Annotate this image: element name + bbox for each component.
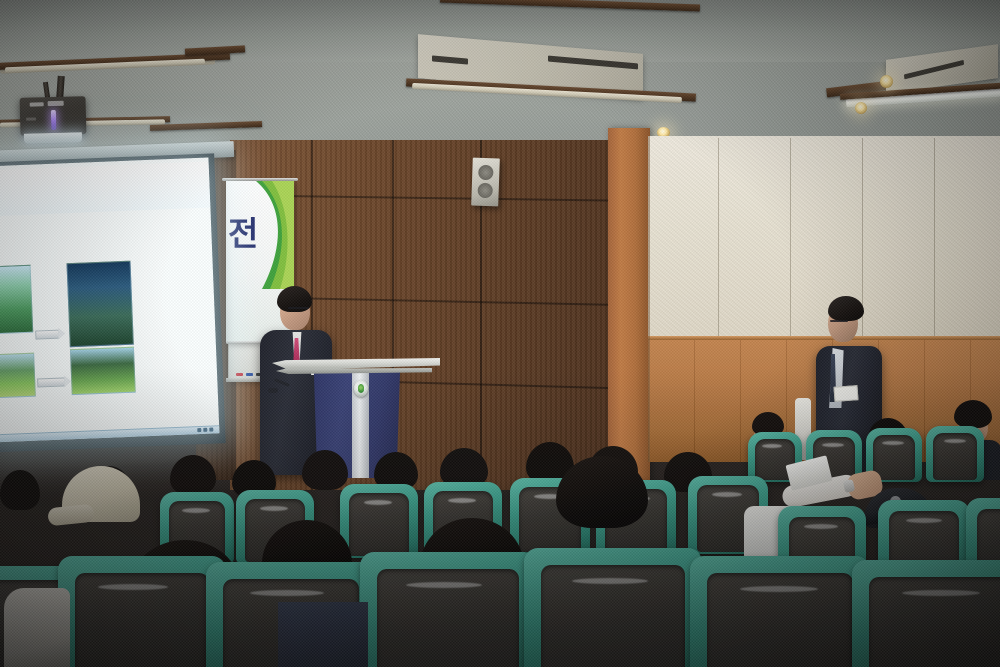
seat[interactable] — [926, 426, 984, 482]
system-tray[interactable] — [197, 427, 215, 432]
slide-arrow-2 — [37, 377, 65, 387]
seat[interactable] — [524, 548, 702, 667]
slide-photo-3 — [0, 353, 36, 399]
downlight-right-2 — [855, 102, 867, 114]
downlight-right-1 — [880, 75, 893, 88]
marker-blue — [246, 373, 253, 376]
audience-head — [0, 470, 44, 528]
attendee-light-clothing — [4, 588, 70, 667]
seat[interactable] — [58, 556, 226, 667]
seat[interactable] — [852, 560, 1000, 667]
microphone-head — [268, 388, 278, 393]
slide — [0, 157, 219, 442]
standing-man-glasses — [830, 320, 848, 322]
slide-title-band — [0, 161, 210, 216]
presenter-glasses — [288, 307, 309, 309]
slide-photo-2 — [66, 261, 133, 348]
auditorium-photo: 전 — [0, 0, 1000, 667]
seat[interactable] — [360, 552, 536, 667]
wall-seam — [648, 136, 650, 462]
projector — [20, 96, 87, 136]
wall-speaker — [471, 158, 500, 207]
slide-arrow-1 — [35, 330, 59, 340]
seat[interactable] — [690, 556, 870, 667]
attendee-dark-clothing — [278, 602, 368, 667]
panel-seam — [934, 138, 935, 336]
beige-cap-brim — [47, 504, 95, 527]
podium-emblem — [354, 380, 368, 397]
pillar — [608, 128, 650, 490]
panel-seam — [718, 138, 719, 336]
slide-photo-4 — [70, 347, 136, 396]
wristwatch — [843, 479, 855, 493]
attendee-with-beige-cap — [48, 466, 140, 544]
marker-red — [236, 373, 243, 376]
name-badge — [834, 385, 859, 402]
slide-photo-1 — [0, 265, 33, 335]
audience-head — [556, 456, 648, 542]
panel-seam — [790, 138, 791, 336]
projection-screen — [0, 157, 219, 442]
standing-man-hair — [828, 296, 864, 321]
projector-lens-housing — [24, 132, 82, 144]
banner-character: 전 — [228, 217, 258, 250]
